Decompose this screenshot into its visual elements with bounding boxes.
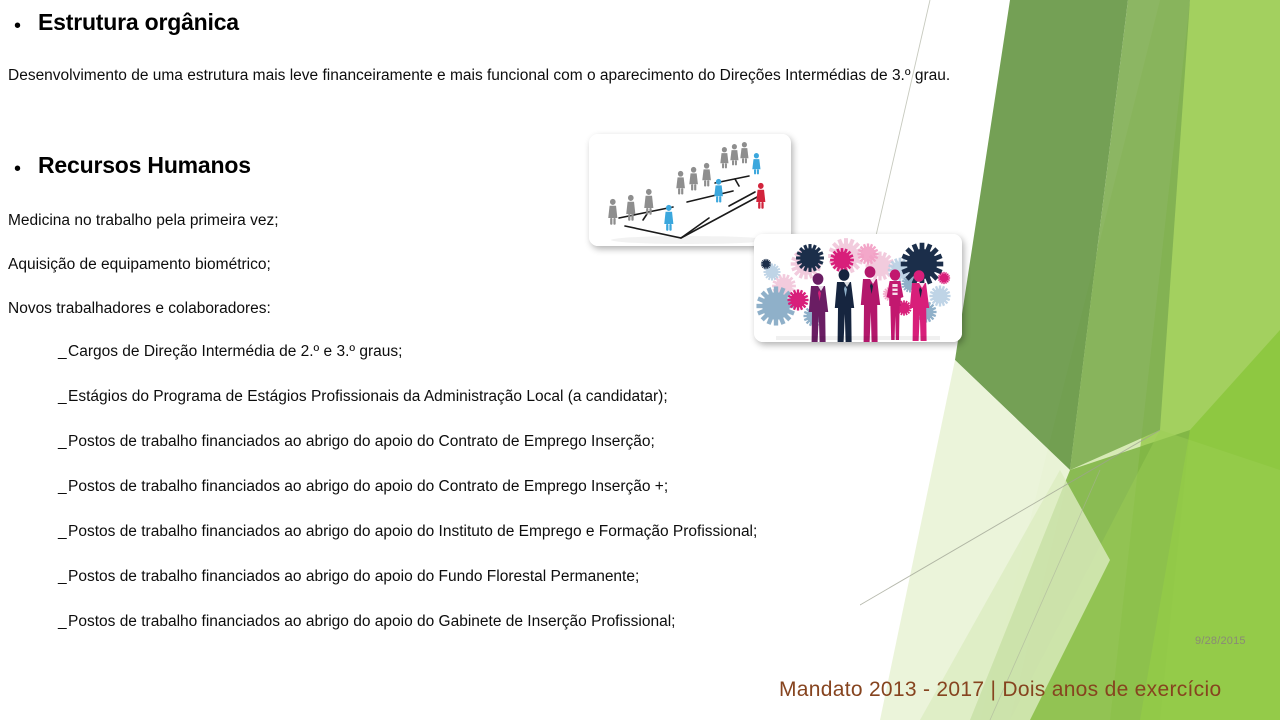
heading-text: Estrutura orgânica [38,10,239,35]
list-item: _ Estágios do Programa de Estágios Profi… [0,388,1100,433]
underscore-marker-icon: _ [58,478,68,496]
list-item-label: Postos de trabalho financiados ao abrigo… [68,613,676,632]
slide-content: • Estrutura orgânica Desenvolvimento de … [0,0,1280,720]
underscore-marker-icon: _ [58,523,68,541]
list-item: _ Postos de trabalho financiados ao abri… [0,523,1100,568]
recursos-line-3: Novos trabalhadores e colaboradores: [0,299,271,318]
bullet-icon: • [14,10,38,36]
line-text: Novos trabalhadores e colaboradores: [0,299,271,318]
list-item-label: Postos de trabalho financiados ao abrigo… [68,433,655,452]
paragraph-text: Desenvolvimento de uma estrutura mais le… [0,66,1240,85]
list-item-label: Postos de trabalho financiados ao abrigo… [68,478,668,497]
list-item-label: Postos de trabalho financiados ao abrigo… [68,523,757,542]
underscore-marker-icon: _ [58,433,68,451]
paragraph-estrutura-organica: Desenvolvimento de uma estrutura mais le… [0,66,1240,85]
slide-canvas: • Estrutura orgânica Desenvolvimento de … [0,0,1280,720]
date-stamp: 9/28/2015 [1195,635,1246,647]
underscore-marker-icon: _ [58,613,68,631]
list-item-label: Cargos de Direção Intermédia de 2.º e 3.… [68,343,402,362]
section-heading-recursos-humanos: • Recursos Humanos [0,153,251,179]
bullet-icon: • [14,153,38,179]
recursos-line-2: Aquisição de equipamento biométrico; [0,255,271,274]
list-item: _ Postos de trabalho financiados ao abri… [0,568,1100,613]
gears-people-image [754,234,962,342]
list-item: _ Postos de trabalho financiados ao abri… [0,433,1100,478]
heading-text: Recursos Humanos [38,153,251,178]
list-item: _ Cargos de Direção Intermédia de 2.º e … [0,343,1100,388]
line-text: Medicina no trabalho pela primeira vez; [0,211,279,230]
line-text: Aquisição de equipamento biométrico; [0,255,271,274]
list-item: _ Postos de trabalho financiados ao abri… [0,478,1100,523]
list-item-label: Estágios do Programa de Estágios Profiss… [68,388,668,407]
underscore-marker-icon: _ [58,343,68,361]
sub-items-list: _ Cargos de Direção Intermédia de 2.º e … [0,343,1100,658]
section-heading-estrutura-organica: • Estrutura orgânica [0,10,239,36]
list-item-label: Postos de trabalho financiados ao abrigo… [68,568,639,587]
underscore-marker-icon: _ [58,388,68,406]
recursos-line-1: Medicina no trabalho pela primeira vez; [0,211,279,230]
list-item: _ Postos de trabalho financiados ao abri… [0,613,1100,658]
underscore-marker-icon: _ [58,568,68,586]
organizational-chart-image [589,134,791,246]
footer-title: Mandato 2013 - 2017 | Dois anos de exerc… [779,678,1221,702]
